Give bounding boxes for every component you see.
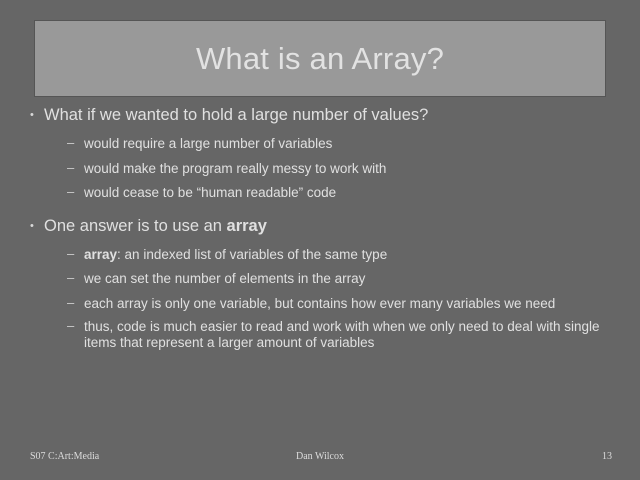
dash-icon: – — [67, 247, 74, 262]
dash-icon: – — [67, 296, 74, 311]
bullet-text-emphasis: array — [84, 247, 117, 262]
dash-icon: – — [67, 271, 74, 286]
slide-footer: S07 C:Art:Media Dan Wilcox 13 — [0, 451, 640, 467]
bullet-item-sub-1-1: – would require a large number of variab… — [30, 136, 614, 152]
bullet-text: would make the program really messy to w… — [84, 161, 386, 176]
bullet-item-primary-2: • One answer is to use an array — [30, 217, 614, 236]
bullet-text: we can set the number of elements in the… — [84, 271, 365, 286]
slide-canvas: What is an Array? • What if we wanted to… — [0, 0, 640, 480]
footer-author-label: Dan Wilcox — [0, 451, 640, 462]
bullet-dot-icon: • — [30, 106, 34, 125]
page-title: What is an Array? — [196, 43, 444, 74]
bullet-text: One answer is to use an — [44, 217, 227, 235]
bullet-text: thus, code is much easier to read and wo… — [84, 319, 600, 350]
dash-icon: – — [67, 136, 74, 151]
bullet-text: would cease to be “human readable” code — [84, 185, 336, 200]
bullet-item-sub-2-4: – thus, code is much easier to read and … — [30, 319, 614, 350]
spacer — [30, 210, 614, 217]
dash-icon: – — [67, 185, 74, 200]
bullet-item-sub-2-2: – we can set the number of elements in t… — [30, 271, 614, 287]
spacer — [30, 127, 614, 136]
bullet-text: would require a large number of variable… — [84, 136, 332, 151]
bullet-text: : an indexed list of variables of the sa… — [117, 247, 387, 262]
bullet-item-primary-1: • What if we wanted to hold a large numb… — [30, 106, 614, 125]
bullet-item-sub-1-2: – would make the program really messy to… — [30, 161, 614, 177]
bullet-item-sub-1-3: – would cease to be “human readable” cod… — [30, 185, 614, 201]
bullet-text: What if we wanted to hold a large number… — [44, 106, 428, 124]
dash-icon: – — [67, 319, 74, 334]
bullet-item-sub-2-1: – array: an indexed list of variables of… — [30, 247, 614, 263]
bullet-text: each array is only one variable, but con… — [84, 296, 555, 311]
bullet-dot-icon: • — [30, 217, 34, 236]
dash-icon: – — [67, 161, 74, 176]
bullet-item-sub-2-3: – each array is only one variable, but c… — [30, 296, 614, 312]
slide-body: • What if we wanted to hold a large numb… — [30, 106, 614, 358]
bullet-text-emphasis: array — [227, 217, 267, 235]
title-box: What is an Array? — [34, 20, 606, 97]
slide-number: 13 — [602, 451, 612, 462]
spacer — [30, 238, 614, 247]
